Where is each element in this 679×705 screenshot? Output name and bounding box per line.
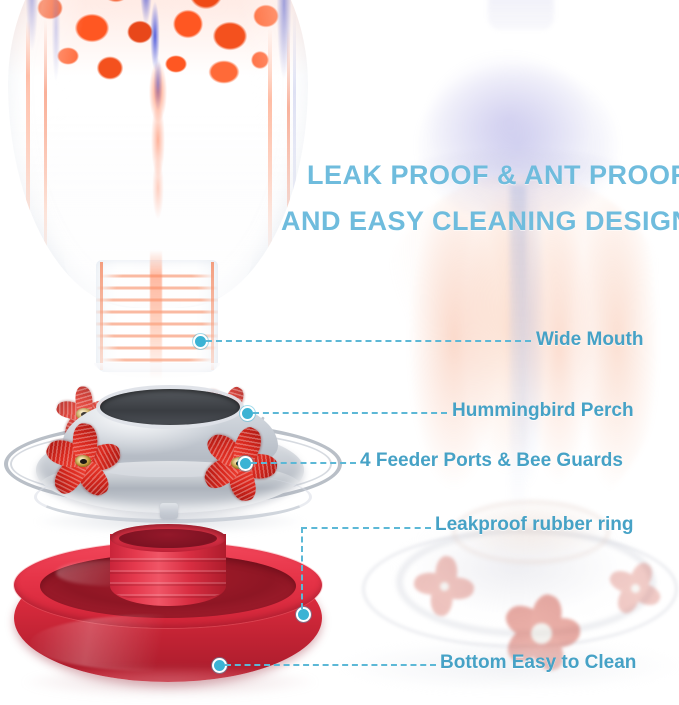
neck-edge-left [100,262,103,370]
bottle-threaded-neck [96,260,218,372]
neck-paint-drip [150,250,162,380]
metal-feeder-base [0,385,340,535]
callout-marker-rubber-ring [296,607,311,622]
glass-nectar-bottle [8,0,308,378]
callout-line-bottom-clean [225,664,436,666]
callout-label-feeder-ports: 4 Feeder Ports & Bee Guards [360,450,623,472]
red-bottom-reservoir [10,536,330,701]
callout-label-rubber-ring: Leakproof rubber ring [435,514,633,536]
callout-line-wide-mouth [206,340,531,342]
neck-edge-right [211,262,214,370]
callout-label-wide-mouth: Wide Mouth [536,329,643,351]
callout-line-hummingbird-perch [253,412,447,414]
callout-line-rubber-ring-vertical [301,527,303,609]
headline-line-1: LEAK PROOF & ANT PROOF [307,160,679,191]
background-base-ring [396,527,656,637]
callout-label-bottom-clean: Bottom Easy to Clean [440,652,636,674]
callout-label-hummingbird-perch: Hummingbird Perch [452,400,634,422]
callout-line-rubber-ring-horizontal [301,527,431,529]
background-bottle-neck [488,0,554,30]
callout-line-feeder-ports [251,462,356,464]
product-feature-image: LEAK PROOF & ANT PROOF AND EASY CLEANING… [0,0,679,705]
feeder-port-front-left [40,429,126,493]
reservoir-center-tube [110,524,226,610]
center-tube-threads [110,550,226,602]
reservoir-drop-shadow [22,668,318,698]
background-flower-port-3 [606,560,664,616]
headline-line-2: AND EASY CLEANING DESIGN [281,206,679,237]
neck-bottom-edge [94,363,220,379]
background-flower-port-2 [412,556,476,616]
background-perch-wire [362,530,678,648]
feeder-port-hole [80,459,87,464]
feeder-wide-mouth-opening [100,389,240,425]
center-tube-bore [119,529,217,548]
